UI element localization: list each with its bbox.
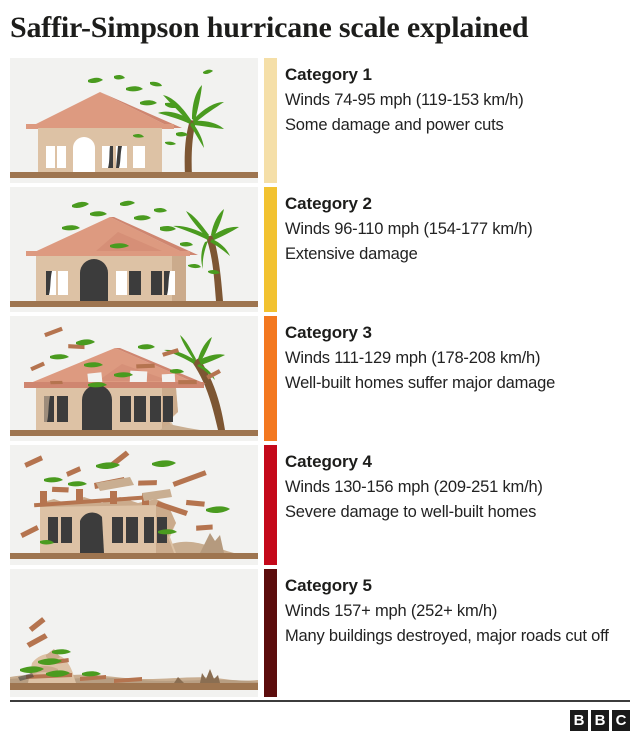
- house-with-broken-windows-and-bending-palm-icon: [10, 187, 258, 312]
- bbc-logo-letter-3: C: [612, 710, 630, 731]
- bbc-logo-letter-1: B: [570, 710, 588, 731]
- category-name: Category 1: [285, 64, 637, 86]
- illustration-category-4: [10, 445, 258, 565]
- category-winds: Winds 96-110 mph (154-177 km/h): [285, 218, 637, 241]
- hurricane-scale-list: Category 1 Winds 74-95 mph (119-153 km/h…: [0, 58, 640, 701]
- text-block-category-1: Category 1 Winds 74-95 mph (119-153 km/h…: [285, 58, 637, 137]
- category-description: Some damage and power cuts: [285, 114, 637, 137]
- category-description: Well-built homes suffer major damage: [285, 372, 637, 395]
- category-description: Many buildings destroyed, major roads cu…: [285, 625, 637, 648]
- text-block-category-4: Category 4 Winds 130-156 mph (209-251 km…: [285, 445, 637, 524]
- flattened-rubble-field-icon: [10, 569, 258, 697]
- house-with-damaged-roof-and-flying-debris-icon: [10, 316, 258, 441]
- category-winds: Winds 157+ mph (252+ km/h): [285, 600, 637, 623]
- scale-row-category-2: Category 2 Winds 96-110 mph (154-177 km/…: [0, 187, 640, 312]
- footer-divider: [10, 700, 630, 702]
- category-winds: Winds 111-129 mph (178-208 km/h): [285, 347, 637, 370]
- footer: B B C: [10, 700, 630, 702]
- category-name: Category 5: [285, 575, 637, 597]
- intact-house-with-palm-tree-icon: [10, 58, 258, 183]
- colorbar-category-4: [264, 445, 277, 565]
- illustration-category-2: [10, 187, 258, 312]
- illustration-category-3: [10, 316, 258, 441]
- category-winds: Winds 74-95 mph (119-153 km/h): [285, 89, 637, 112]
- category-description: Extensive damage: [285, 243, 637, 266]
- colorbar-category-5: [264, 569, 277, 697]
- colorbar-category-2: [264, 187, 277, 312]
- scale-row-category-5: Category 5 Winds 157+ mph (252+ km/h) Ma…: [0, 569, 640, 697]
- category-name: Category 4: [285, 451, 637, 473]
- colorbar-category-3: [264, 316, 277, 441]
- category-name: Category 3: [285, 322, 637, 344]
- category-winds: Winds 130-156 mph (209-251 km/h): [285, 476, 637, 499]
- text-block-category-3: Category 3 Winds 111-129 mph (178-208 km…: [285, 316, 637, 395]
- page-title: Saffir-Simpson hurricane scale explained: [10, 8, 630, 52]
- house-with-destroyed-roof-and-rubble-icon: [10, 445, 258, 565]
- scale-row-category-4: Category 4 Winds 130-156 mph (209-251 km…: [0, 445, 640, 565]
- illustration-category-5: [10, 569, 258, 697]
- scale-row-category-1: Category 1 Winds 74-95 mph (119-153 km/h…: [0, 58, 640, 183]
- scale-row-category-3: Category 3 Winds 111-129 mph (178-208 km…: [0, 316, 640, 441]
- colorbar-category-1: [264, 58, 277, 183]
- illustration-category-1: [10, 58, 258, 183]
- bbc-logo: B B C: [570, 710, 630, 731]
- category-name: Category 2: [285, 193, 637, 215]
- category-description: Severe damage to well-built homes: [285, 501, 637, 524]
- text-block-category-2: Category 2 Winds 96-110 mph (154-177 km/…: [285, 187, 637, 266]
- bbc-logo-letter-2: B: [591, 710, 609, 731]
- text-block-category-5: Category 5 Winds 157+ mph (252+ km/h) Ma…: [285, 569, 637, 648]
